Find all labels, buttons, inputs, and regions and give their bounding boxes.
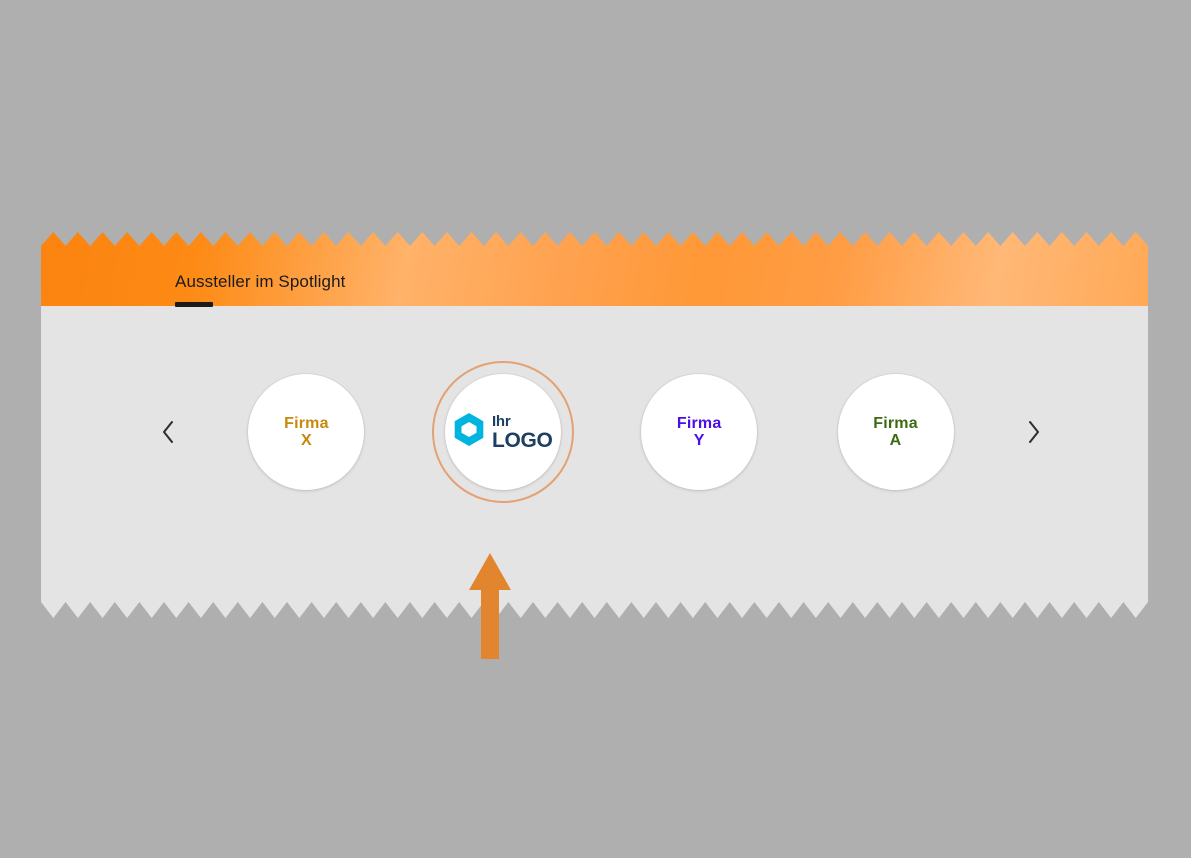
page-title: Aussteller im Spotlight (175, 272, 345, 292)
spotlight-panel: Aussteller im Spotlight Firma X (41, 232, 1148, 618)
ihr-logo-line1: Ihr (492, 414, 553, 429)
logo-circle-firma-a[interactable]: Firma A (838, 374, 954, 490)
hexagon-outline-icon (453, 412, 485, 452)
firma-a-line2: A (873, 432, 918, 449)
firma-y-label: Firma Y (677, 415, 722, 449)
firma-a-label: Firma A (873, 415, 918, 449)
firma-x-label: Firma X (284, 415, 329, 449)
chevron-left-icon (160, 418, 176, 446)
up-arrow-annotation (468, 553, 512, 659)
carousel-item-firma-a[interactable]: Firma A (821, 362, 971, 502)
heading-underline (175, 302, 213, 307)
ihr-logo-lockup: Ihr LOGO (453, 412, 553, 452)
carousel-item-firma-x[interactable]: Firma X (231, 362, 381, 502)
carousel-item-ihr-logo[interactable]: Ihr LOGO (428, 362, 578, 502)
orange-sawtooth-banner (41, 232, 1148, 306)
logo-circle-firma-x[interactable]: Firma X (248, 374, 364, 490)
banner-gradient-fill (41, 232, 1148, 306)
firma-y-line2: Y (677, 432, 722, 449)
ihr-logo-line2: LOGO (492, 430, 553, 451)
carousel-next-button[interactable] (1017, 402, 1051, 462)
logo-circle-ihr-logo[interactable]: Ihr LOGO (445, 374, 561, 490)
carousel-item-firma-y[interactable]: Firma Y (624, 362, 774, 502)
firma-x-line1: Firma (284, 415, 329, 432)
carousel-prev-button[interactable] (151, 402, 185, 462)
exhibitor-carousel: Firma X Ihr LOGO (151, 362, 1051, 502)
chevron-right-icon (1026, 418, 1042, 446)
firma-a-line1: Firma (873, 415, 918, 432)
logo-circle-firma-y[interactable]: Firma Y (641, 374, 757, 490)
firma-y-line1: Firma (677, 415, 722, 432)
firma-x-line2: X (284, 432, 329, 449)
ihr-logo-wordmark: Ihr LOGO (492, 414, 553, 451)
